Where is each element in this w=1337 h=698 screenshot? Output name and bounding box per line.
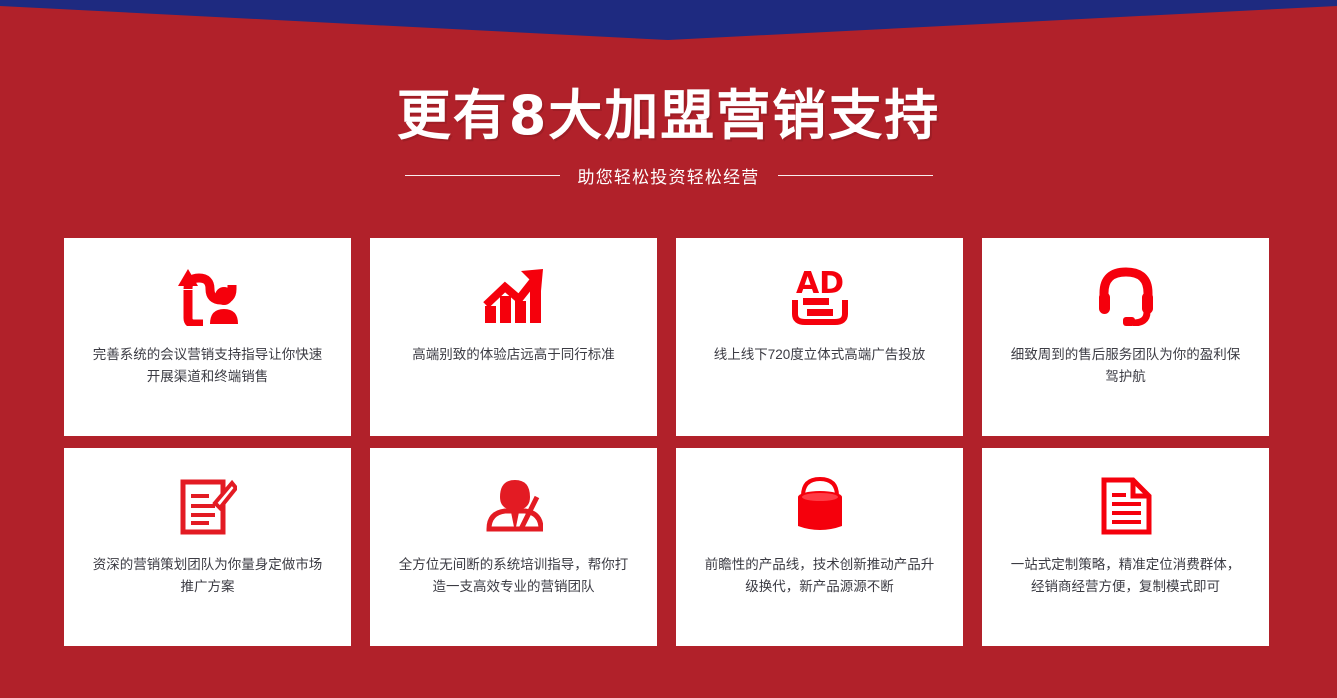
support-card[interactable]: 高端别致的体验店远高于同行标准 bbox=[370, 238, 657, 436]
support-card-text: 一站式定制策略，精准定位消费群体，经销商经营方便，复制模式即可 bbox=[982, 554, 1269, 598]
support-card[interactable]: AD 线上线下720度立体式高端广告投放 bbox=[676, 238, 963, 436]
support-card-text: 资深的营销策划团队为你量身定做市场推广方案 bbox=[64, 554, 351, 598]
document-pencil-icon bbox=[176, 474, 240, 538]
headset-icon bbox=[1094, 264, 1158, 328]
trainer-person-icon bbox=[482, 474, 546, 538]
support-card[interactable]: 细致周到的售后服务团队为你的盈利保驾护航 bbox=[982, 238, 1269, 436]
support-card-text: 前瞻性的产品线，技术创新推动产品升级换代，新产品源源不断 bbox=[676, 554, 963, 598]
support-card[interactable]: 资深的营销策划团队为你量身定做市场推广方案 bbox=[64, 448, 351, 646]
page-title: 更有8大加盟营销支持 bbox=[0, 88, 1337, 144]
support-card-text: 完善系统的会议营销支持指导让你快速开展渠道和终端销售 bbox=[64, 344, 351, 388]
divider-line-right bbox=[778, 175, 933, 176]
support-card[interactable]: 一站式定制策略，精准定位消费群体，经销商经营方便，复制模式即可 bbox=[982, 448, 1269, 646]
arrow-person-icon bbox=[176, 264, 240, 328]
growth-chart-arrow-icon bbox=[482, 264, 546, 328]
file-lines-icon bbox=[1094, 474, 1158, 538]
divider-line-left bbox=[405, 175, 560, 176]
svg-text:AD: AD bbox=[795, 266, 843, 301]
support-card-text: 高端别致的体验店远高于同行标准 bbox=[386, 344, 641, 366]
page-subtitle: 助您轻松投资轻松经营 bbox=[578, 163, 760, 188]
support-card-text: 线上线下720度立体式高端广告投放 bbox=[688, 344, 952, 366]
support-card-grid: 完善系统的会议营销支持指导让你快速开展渠道和终端销售 高端别致的体验店远高于同行… bbox=[64, 238, 1269, 646]
support-card-text: 全方位无间断的系统培训指导，帮你打造一支高效专业的营销团队 bbox=[370, 554, 657, 598]
top-chevron-banner bbox=[0, 0, 1337, 44]
page-heading: 更有8大加盟营销支持 助您轻松投资轻松经营 bbox=[0, 88, 1337, 188]
paint-bucket-icon bbox=[788, 474, 852, 538]
subtitle-row: 助您轻松投资轻松经营 bbox=[0, 163, 1337, 188]
support-card[interactable]: 全方位无间断的系统培训指导，帮你打造一支高效专业的营销团队 bbox=[370, 448, 657, 646]
promo-page: 更有8大加盟营销支持 助您轻松投资轻松经营 bbox=[0, 0, 1337, 698]
support-card[interactable]: 前瞻性的产品线，技术创新推动产品升级换代，新产品源源不断 bbox=[676, 448, 963, 646]
support-card-text: 细致周到的售后服务团队为你的盈利保驾护航 bbox=[982, 344, 1269, 388]
ad-banner-icon: AD bbox=[788, 264, 852, 328]
support-card[interactable]: 完善系统的会议营销支持指导让你快速开展渠道和终端销售 bbox=[64, 238, 351, 436]
